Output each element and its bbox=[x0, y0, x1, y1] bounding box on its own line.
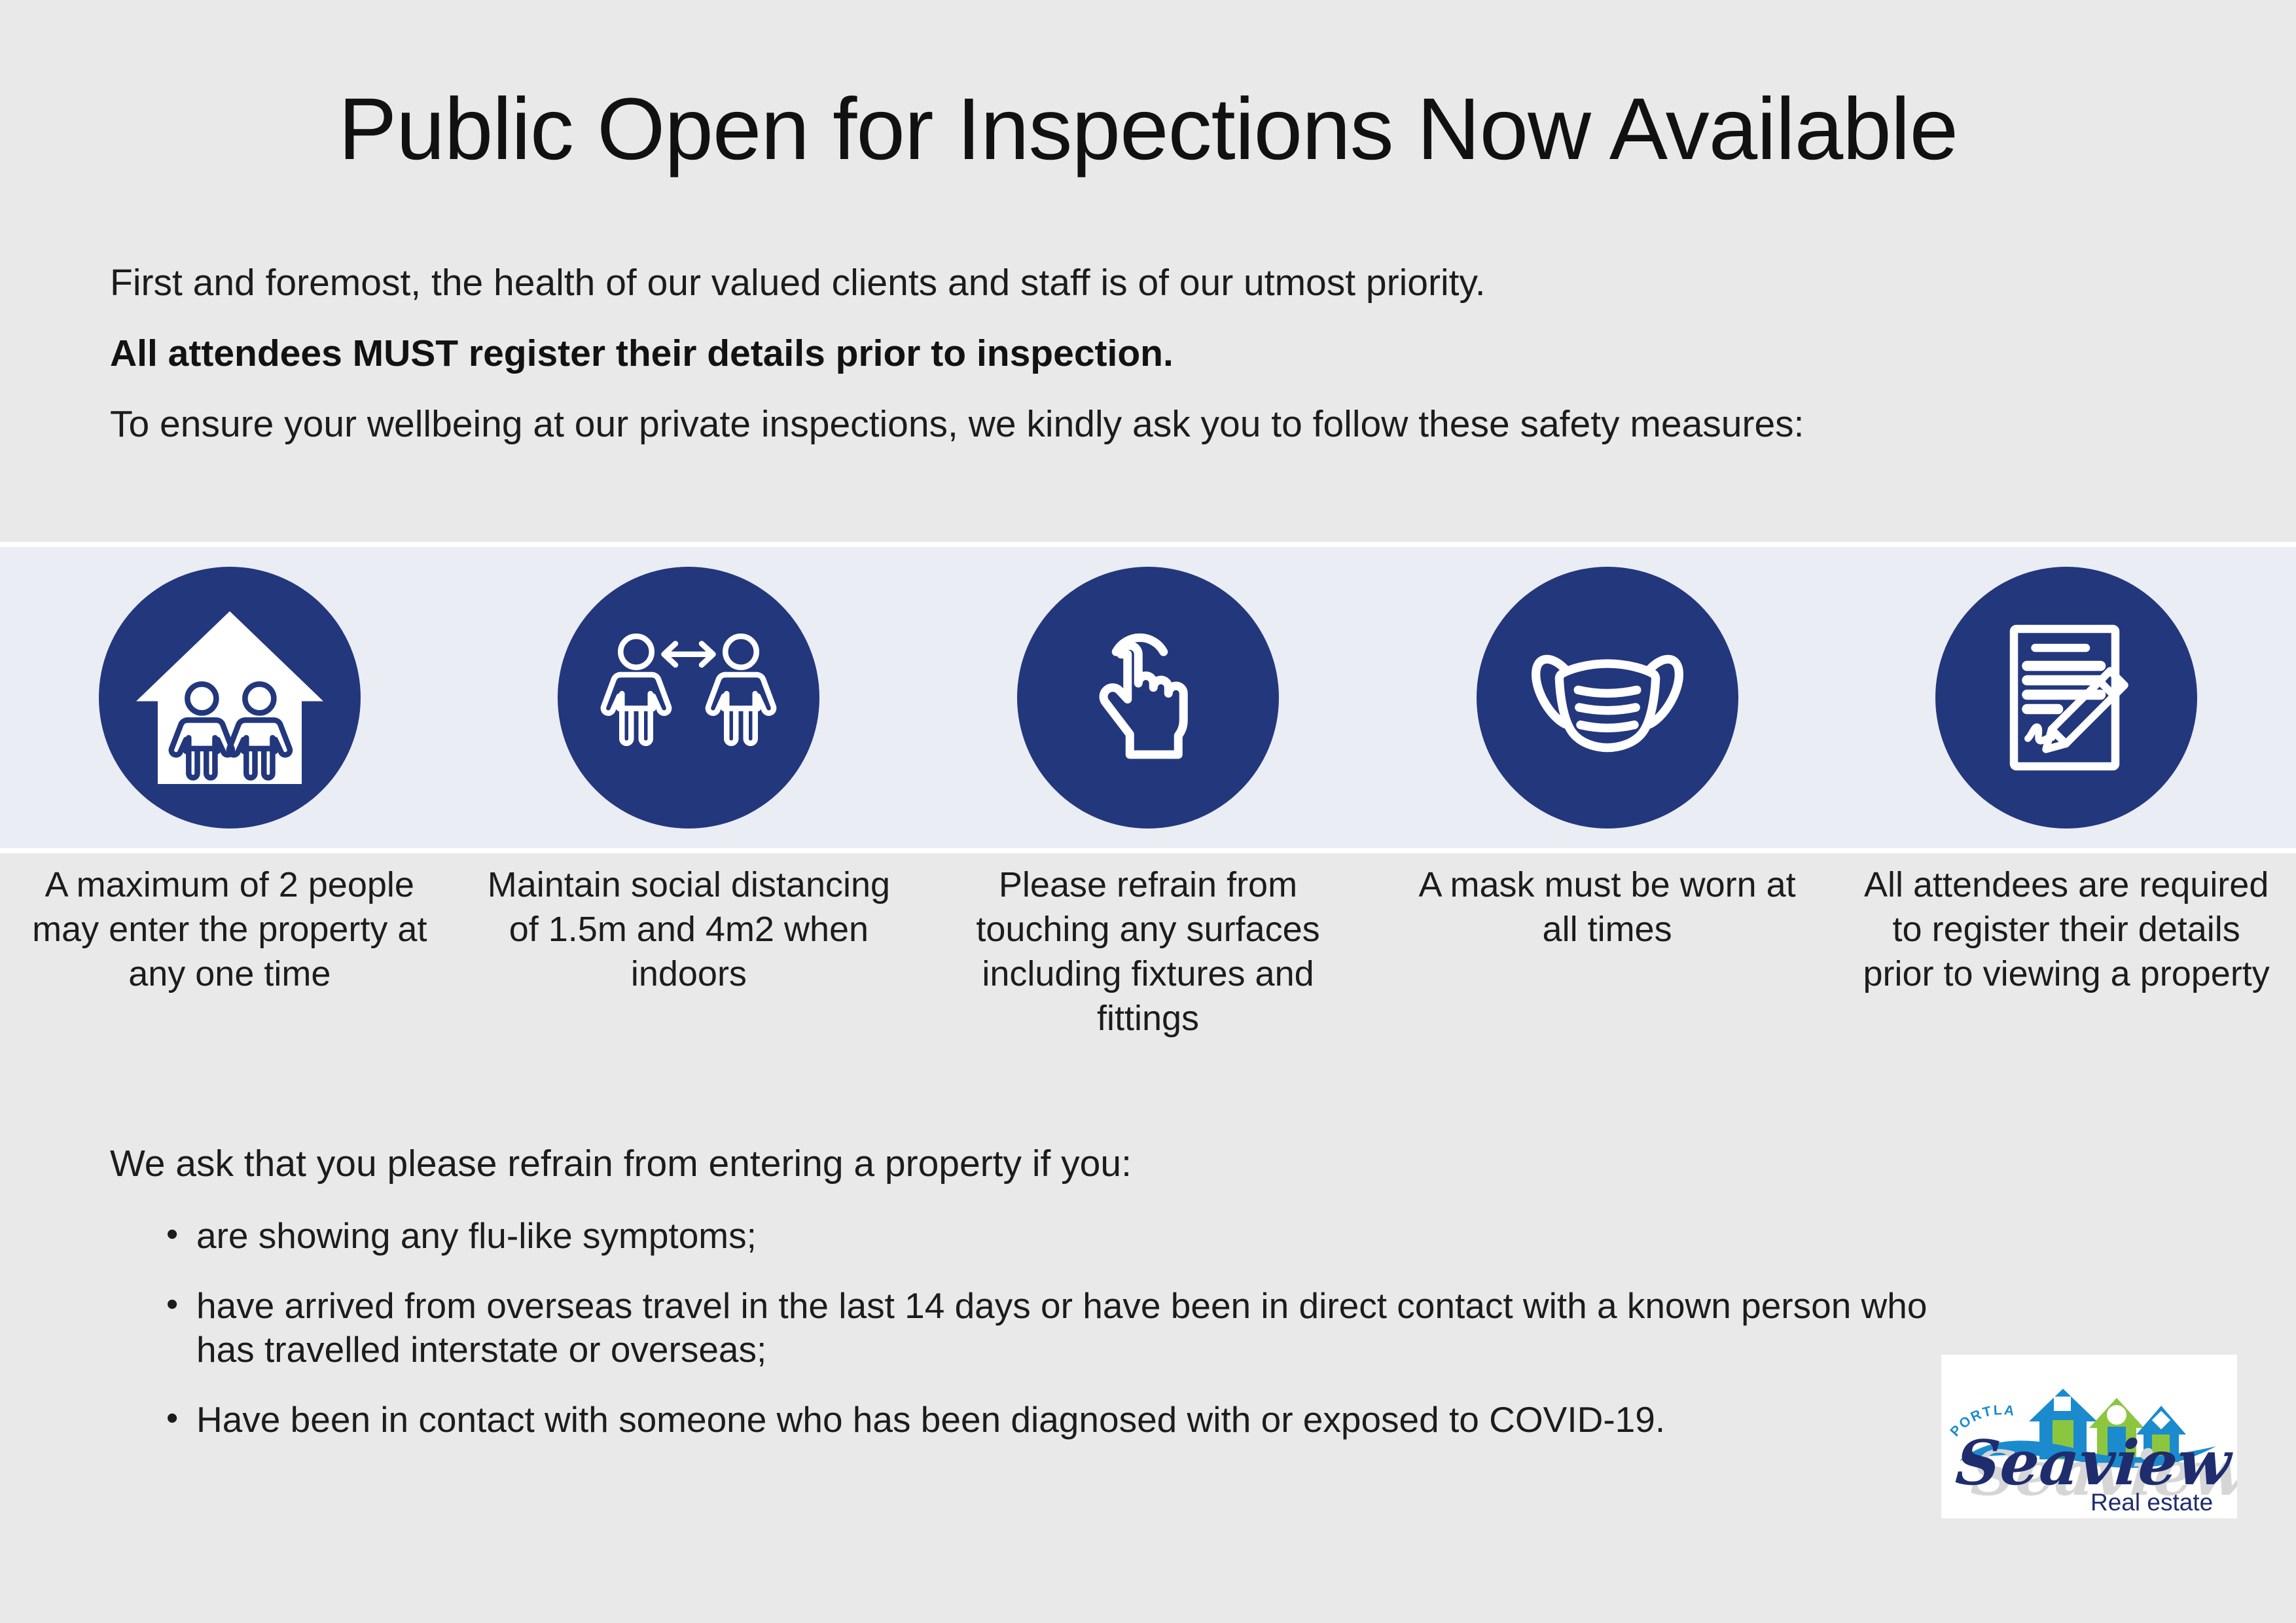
face-mask-icon bbox=[1477, 567, 1738, 829]
list-item: • Have been in contact with someone who … bbox=[164, 1398, 1931, 1442]
measure-caption-cell-4: A mask must be worn at all times bbox=[1378, 863, 1837, 1041]
refrain-bullet-3: Have been in contact with someone who ha… bbox=[196, 1398, 1931, 1442]
refrain-bullet-2: have arrived from overseas travel in the… bbox=[196, 1284, 1931, 1372]
intro-line-2: All attendees MUST register their detail… bbox=[110, 335, 2178, 372]
measure-icon-cell-4 bbox=[1378, 567, 1837, 829]
intro-paragraphs: First and foremost, the health of our va… bbox=[110, 264, 2178, 476]
measure-caption-3: Please refrain from touching any surface… bbox=[941, 863, 1355, 1041]
refrain-bullet-1: are showing any flu-like symptoms; bbox=[196, 1214, 1931, 1258]
page-title: Public Open for Inspections Now Availabl… bbox=[0, 84, 2296, 176]
divider-top bbox=[0, 542, 2296, 547]
intro-line-1: First and foremost, the health of our va… bbox=[110, 264, 2178, 302]
measure-icon-cell-5 bbox=[1837, 567, 2296, 829]
seaview-real-estate-logo: PORTLAND Seaview Seaview Real estate bbox=[1941, 1355, 2237, 1518]
bullet-dot-icon: • bbox=[164, 1284, 196, 1325]
poster-root: Public Open for Inspections Now Availabl… bbox=[0, 0, 2296, 1623]
measure-icon-row bbox=[0, 547, 2296, 848]
refrain-bullet-list: • are showing any flu-like symptoms; • h… bbox=[164, 1214, 1931, 1468]
bullet-dot-icon: • bbox=[164, 1214, 196, 1255]
document-pencil-register-icon bbox=[1935, 567, 2197, 829]
list-item: • are showing any flu-like symptoms; bbox=[164, 1214, 1931, 1258]
measure-icon-cell-1 bbox=[0, 567, 459, 829]
bullet-dot-icon: • bbox=[164, 1398, 196, 1439]
measure-caption-cell-1: A maximum of 2 people may enter the prop… bbox=[0, 863, 459, 1041]
social-distancing-icon bbox=[558, 567, 819, 829]
measure-caption-cell-5: All attendees are required to register t… bbox=[1837, 863, 2296, 1041]
measure-caption-row: A maximum of 2 people may enter the prop… bbox=[0, 863, 2296, 1041]
measure-icon-cell-3 bbox=[918, 567, 1378, 829]
measure-caption-2: Maintain social distancing of 1.5m and 4… bbox=[482, 863, 897, 996]
measure-icon-cell-2 bbox=[459, 567, 919, 829]
measure-caption-4: A mask must be worn at all times bbox=[1400, 863, 1815, 952]
measure-caption-cell-2: Maintain social distancing of 1.5m and 4… bbox=[459, 863, 919, 1041]
divider-bottom bbox=[0, 848, 2296, 853]
house-two-people-icon bbox=[99, 567, 361, 829]
no-touch-hand-icon bbox=[1017, 567, 1279, 829]
list-item: • have arrived from overseas travel in t… bbox=[164, 1284, 1931, 1372]
measure-caption-1: A maximum of 2 people may enter the prop… bbox=[22, 863, 437, 996]
measure-caption-cell-3: Please refrain from touching any surface… bbox=[918, 863, 1378, 1041]
refrain-lead-text: We ask that you please refrain from ente… bbox=[110, 1142, 1132, 1185]
measure-caption-5: All attendees are required to register t… bbox=[1859, 863, 2274, 996]
intro-line-3: To ensure your wellbeing at our private … bbox=[110, 406, 2178, 443]
svg-text:Real estate: Real estate bbox=[2090, 1489, 2213, 1516]
